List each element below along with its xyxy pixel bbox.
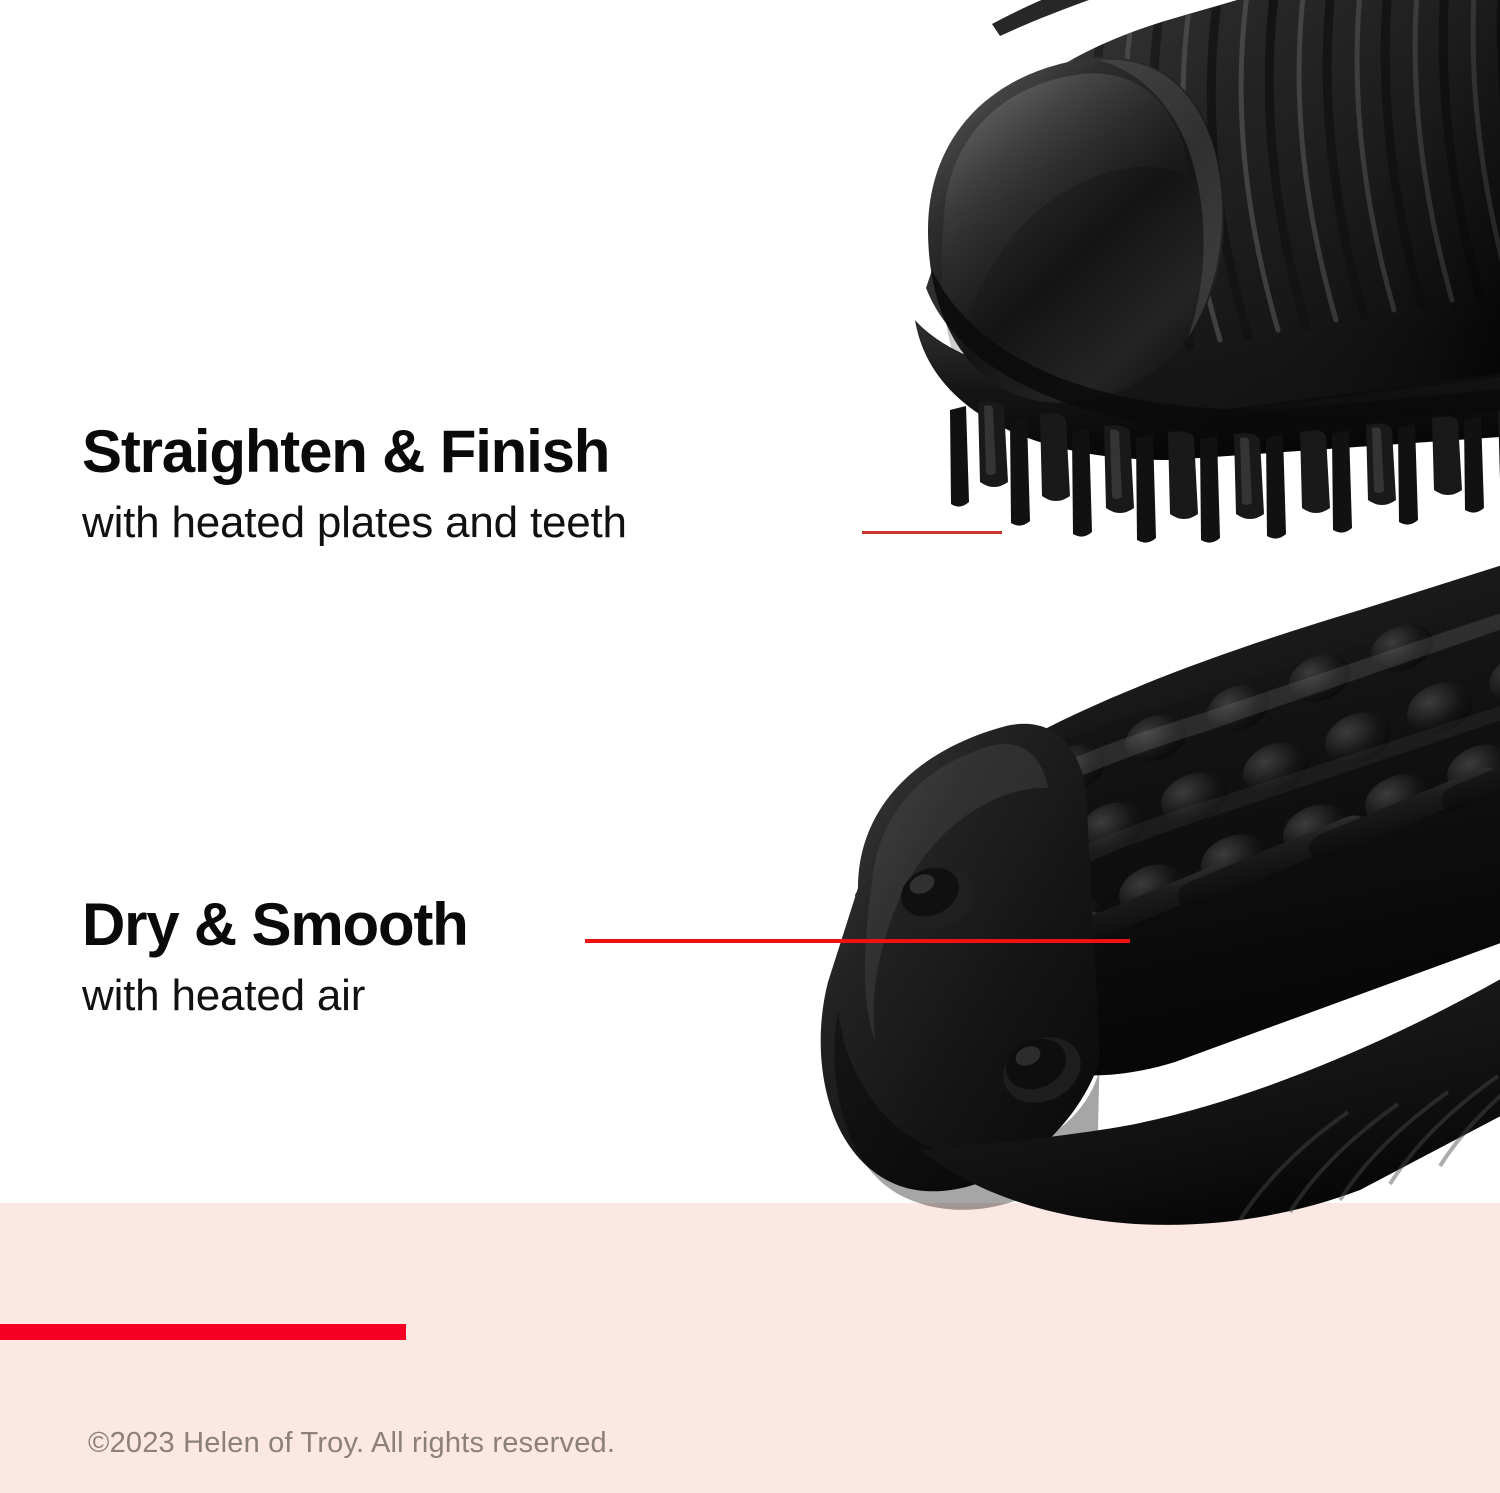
callout-straighten-finish: Straighten & Finish with heated plates a…	[82, 420, 627, 547]
footer-accent-rule	[0, 1324, 406, 1340]
leader-line-icon-dry-smooth	[585, 939, 1130, 943]
product-image-straightening-brush	[700, 0, 1500, 580]
leader-line-icon-straighten-finish	[862, 531, 1002, 534]
product-feature-graphic: ©2023 Helen of Troy. All rights reserved…	[0, 0, 1500, 1493]
callout-subtitle-dry-smooth: with heated air	[82, 972, 468, 1020]
callout-dry-smooth: Dry & Smooth with heated air	[82, 893, 468, 1020]
copyright-text: ©2023 Helen of Troy. All rights reserved…	[88, 1427, 615, 1460]
callout-title-straighten-finish: Straighten & Finish	[82, 420, 627, 485]
callout-subtitle-straighten-finish: with heated plates and teeth	[82, 499, 627, 547]
callout-title-dry-smooth: Dry & Smooth	[82, 893, 468, 958]
